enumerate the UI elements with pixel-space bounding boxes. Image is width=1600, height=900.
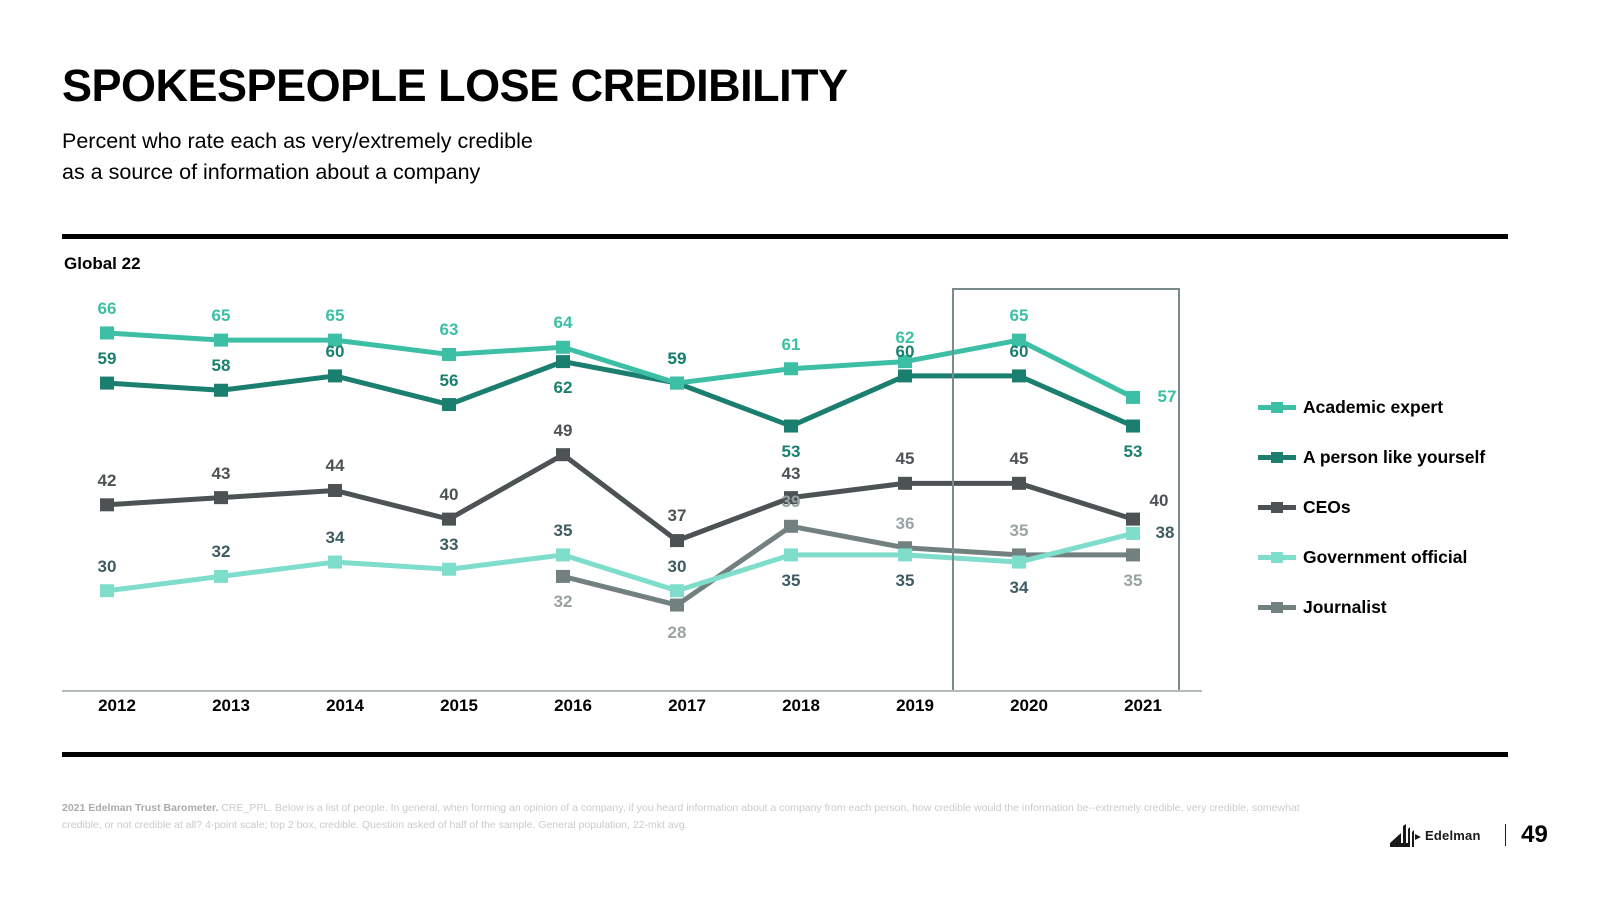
data-point-marker [328,484,342,497]
x-axis-ticks: 2012201320142015201620172018201920202021 [62,696,1202,730]
data-point-marker [670,584,684,597]
data-label: 30 [98,557,117,577]
data-label: 60 [326,342,345,362]
line-chart-plot: 6665656364596162655759586056625953606053… [62,266,1242,676]
data-label: 62 [554,378,573,398]
divider-bottom [62,752,1508,757]
data-point-marker [442,513,456,526]
chart-svg [62,266,1242,676]
data-label: 65 [1010,306,1029,326]
legend-swatch-icon [1258,448,1296,466]
data-point-marker [898,477,912,490]
data-label: 34 [326,528,345,548]
data-label: 35 [554,521,573,541]
legend-swatch-icon [1258,598,1296,616]
data-point-marker [100,326,114,339]
data-point-marker [556,341,570,354]
data-label: 60 [1010,342,1029,362]
data-point-marker [100,498,114,511]
data-point-marker [670,377,684,390]
edelman-logo: Edelman [1388,822,1481,848]
data-point-marker [1012,369,1026,382]
data-point-marker [1126,391,1140,404]
slide: SPOKESPEOPLE LOSE CREDIBILITY Percent wh… [0,0,1600,900]
data-point-marker [328,556,342,569]
data-point-marker [556,448,570,461]
data-label: 59 [98,349,117,369]
divider-top [62,234,1508,239]
data-label: 35 [1010,521,1029,541]
data-point-marker [100,584,114,597]
footnote-source: 2021 Edelman Trust Barometer. [62,802,218,814]
data-point-marker [1126,548,1140,561]
data-label: 32 [212,542,231,562]
legend-swatch-icon [1258,398,1296,416]
data-label: 30 [668,557,687,577]
data-point-marker [556,548,570,561]
legend-item-journalist[interactable]: Journalist [1258,582,1558,632]
data-point-marker [898,369,912,382]
series-line-a-person-like-yourself [107,362,1133,426]
data-point-marker [442,398,456,411]
data-label: 44 [326,456,345,476]
x-axis-tick-2012: 2012 [62,696,172,716]
data-label: 45 [896,449,915,469]
data-label: 66 [98,299,117,319]
footnote: 2021 Edelman Trust Barometer. CRE_PPL. B… [62,800,1312,834]
data-label: 49 [554,421,573,441]
data-label: 32 [554,592,573,612]
data-label: 40 [440,485,459,505]
data-label: 36 [896,514,915,534]
data-label: 56 [440,371,459,391]
chart-legend: Academic expertA person like yourselfCEO… [1258,382,1558,632]
brand-bar: Edelman 49 [1388,818,1548,852]
data-point-marker [1126,513,1140,526]
data-point-marker [784,520,798,533]
subtitle-line-1: Percent who rate each as very/extremely … [62,126,533,157]
data-label: 38 [1156,523,1175,543]
data-point-marker [1126,420,1140,433]
data-point-marker [442,348,456,361]
data-label: 35 [782,571,801,591]
page-title: SPOKESPEOPLE LOSE CREDIBILITY [62,62,848,110]
data-point-marker [214,334,228,347]
legend-label: Academic expert [1303,397,1443,418]
data-label: 35 [896,571,915,591]
series-line-ceos [107,455,1133,541]
x-axis-tick-2016: 2016 [518,696,628,716]
legend-label: CEOs [1303,497,1351,518]
edelman-wordmark: Edelman [1425,828,1481,843]
data-label: 65 [326,306,345,326]
page-number: 49 [1521,821,1548,849]
legend-label: A person like yourself [1303,447,1485,468]
data-label: 42 [98,471,117,491]
legend-item-government-official[interactable]: Government official [1258,532,1558,582]
footnote-body: CRE_PPL. Below is a list of people. In g… [62,802,1300,831]
x-axis-tick-2018: 2018 [746,696,856,716]
data-label: 45 [1010,449,1029,469]
data-label: 61 [782,335,801,355]
data-label: 53 [782,442,801,462]
data-label: 28 [668,623,687,643]
data-point-marker [670,534,684,547]
data-point-marker [442,563,456,576]
x-axis-tick-2019: 2019 [860,696,970,716]
edelman-flag-icon [1388,822,1422,848]
chart-region: Global 22 666565636459616265575958605662… [62,248,1242,698]
x-axis-tick-2015: 2015 [404,696,514,716]
series-line-government-official [107,533,1133,590]
data-point-marker [784,548,798,561]
series-line-journalist [563,526,1133,605]
x-axis-tick-2021: 2021 [1088,696,1198,716]
data-point-marker [556,355,570,368]
data-label: 39 [782,492,801,512]
data-label: 60 [896,342,915,362]
data-label: 40 [1150,491,1169,511]
data-label: 33 [440,535,459,555]
data-label: 37 [668,506,687,526]
data-label: 35 [1124,571,1143,591]
data-label: 65 [212,306,231,326]
subtitle-line-2: as a source of information about a compa… [62,157,533,188]
data-point-marker [784,420,798,433]
legend-label: Government official [1303,547,1467,568]
legend-swatch-icon [1258,548,1296,566]
data-point-marker [214,384,228,397]
data-label: 64 [554,313,573,333]
data-point-marker [328,369,342,382]
data-point-marker [214,491,228,504]
data-label: 63 [440,320,459,340]
data-point-marker [1126,527,1140,540]
data-point-marker [214,570,228,583]
data-point-marker [670,599,684,612]
data-point-marker [898,548,912,561]
brand-divider [1505,824,1507,846]
x-axis-tick-2020: 2020 [974,696,1084,716]
data-label: 43 [782,464,801,484]
data-label: 34 [1010,578,1029,598]
data-point-marker [556,570,570,583]
legend-item-academic-expert[interactable]: Academic expert [1258,382,1558,432]
data-label: 58 [212,356,231,376]
data-point-marker [1012,556,1026,569]
x-axis-tick-2014: 2014 [290,696,400,716]
data-point-marker [1012,477,1026,490]
legend-label: Journalist [1303,597,1387,618]
data-label: 53 [1124,442,1143,462]
page-subtitle: Percent who rate each as very/extremely … [62,126,533,188]
data-label: 57 [1158,387,1177,407]
data-point-marker [784,362,798,375]
legend-swatch-icon [1258,498,1296,516]
x-axis-tick-2017: 2017 [632,696,742,716]
data-point-marker [100,377,114,390]
x-axis-line [62,690,1202,692]
data-label: 43 [212,464,231,484]
legend-item-a-person-like-yourself[interactable]: A person like yourself [1258,432,1558,482]
legend-item-ceos[interactable]: CEOs [1258,482,1558,532]
data-label: 59 [668,349,687,369]
x-axis-tick-2013: 2013 [176,696,286,716]
